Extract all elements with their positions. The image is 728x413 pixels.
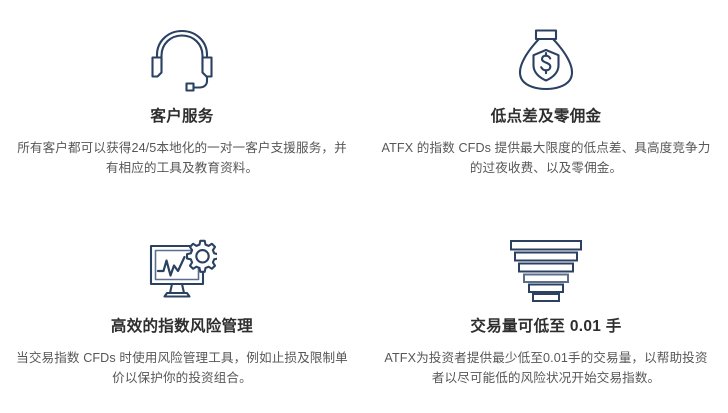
feature-card-low-spread: 低点差及零佣金 ATFX 的指数 CFDs 提供最大限度的低点差、具高度竞争力的… [364, 0, 728, 206]
feature-title: 交易量可低至 0.01 手 [470, 318, 621, 337]
feature-description: 所有客户都可以获得24/5本地化的一对一客户支援服务，并有相应的工具及教育资料。 [14, 138, 350, 179]
feature-card-customer-service: 客户服务 所有客户都可以获得24/5本地化的一对一客户支援服务，并有相应的工具及… [0, 0, 364, 206]
feature-description: ATFX为投资者提供最少低至0.01手的交易量，以帮助投资者以尽可能低的风险状况… [379, 348, 713, 389]
funnel-bars-icon [504, 236, 588, 304]
feature-description: 当交易指数 CFDs 时使用风险管理工具，例如止损及限制单价以保护你的投资组合。 [15, 348, 349, 389]
feature-grid: 客户服务 所有客户都可以获得24/5本地化的一对一客户支援服务，并有相应的工具及… [0, 0, 728, 413]
feature-title: 低点差及零佣金 [491, 108, 602, 127]
monitor-chart-gear-icon [147, 236, 217, 304]
money-bag-shield-dollar-icon [513, 26, 579, 94]
feature-title: 高效的指数风险管理 [111, 318, 253, 337]
feature-card-risk-management: 高效的指数风险管理 当交易指数 CFDs 时使用风险管理工具，例如止损及限制单价… [0, 206, 364, 413]
feature-title: 客户服务 [150, 108, 213, 127]
feature-description: ATFX 的指数 CFDs 提供最大限度的低点差、具高度竞争力的过夜收费、以及零… [378, 138, 714, 179]
headset-icon [146, 26, 218, 94]
feature-card-min-lot: 交易量可低至 0.01 手 ATFX为投资者提供最少低至0.01手的交易量，以帮… [364, 206, 728, 413]
